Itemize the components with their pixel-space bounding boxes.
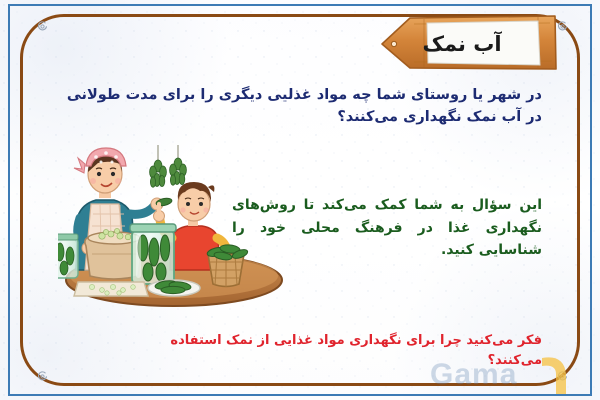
plate-of-cucumbers: [148, 280, 200, 296]
glass-jar-left: [58, 234, 78, 278]
glass-jar-of-pickles: [130, 224, 176, 284]
hanging-herbs: [150, 145, 187, 187]
question-prompt: فکر می‌کنید چرا برای نگهداری مواد غذایی …: [140, 331, 542, 370]
note-secondary: این سؤال به شما کمک می‌کند تا روش‌های نگ…: [232, 194, 542, 262]
title-label: آب نمک: [380, 27, 558, 61]
slide-canvas: آب نمک در شهر یا روستای شما چه مواد غذلی…: [0, 0, 600, 400]
question-primary: در شهر یا روستای شما چه مواد غذلیی دیگری…: [58, 84, 542, 129]
spiral-ornament-icon: [36, 20, 49, 33]
cutting-board: [74, 282, 148, 296]
spiral-ornament-icon: [36, 370, 49, 383]
title-signpost: آب نمک: [380, 14, 558, 72]
spiral-ornament-icon: [556, 370, 569, 383]
